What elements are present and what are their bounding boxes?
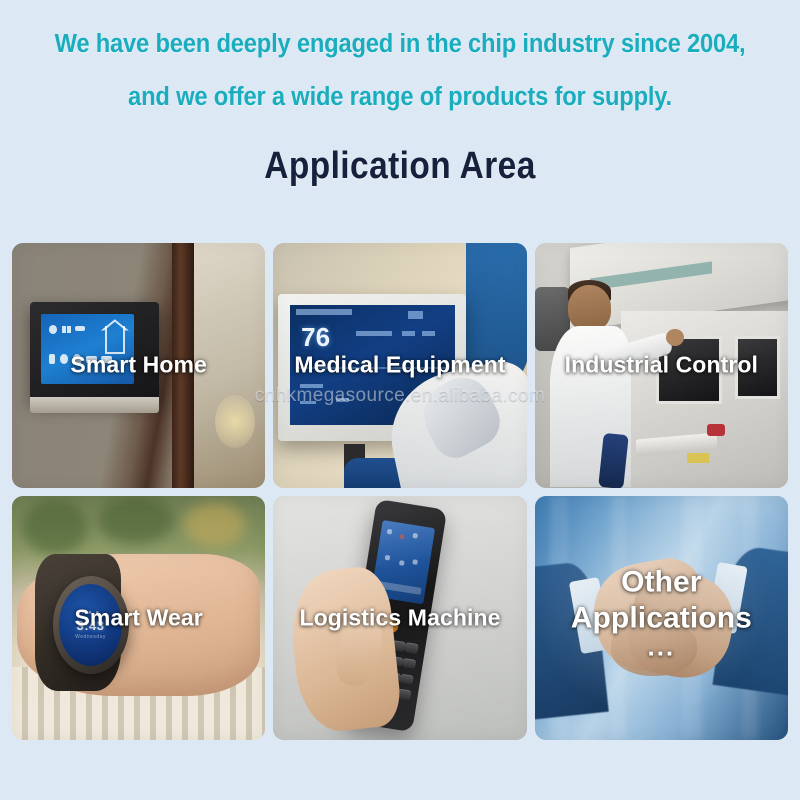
other-label-line-2: Applications	[571, 601, 752, 634]
other-label-ellipsis: ...	[541, 636, 782, 656]
card-label-other-applications: Other Applications ...	[535, 564, 788, 656]
monitor-field-2	[402, 331, 415, 336]
background-foliage	[22, 500, 88, 554]
watch-date: Wednesday	[75, 634, 106, 640]
heart-rate-value: 76	[301, 324, 330, 350]
card-smart-home[interactable]: Smart Home	[12, 243, 265, 488]
background-foliage	[98, 496, 174, 545]
card-other-applications[interactable]: Other Applications ...	[535, 496, 788, 741]
monitor-field-6	[336, 398, 349, 402]
terminal-app-icon	[400, 560, 406, 566]
terminal-app-icon	[413, 533, 419, 539]
page-header: We have been deeply engaged in the chip …	[0, 0, 800, 188]
red-component	[707, 424, 725, 436]
terminal-key	[405, 642, 419, 653]
tagline-line-1: We have been deeply engaged in the chip …	[45, 18, 756, 71]
background-light	[184, 503, 245, 547]
terminal-key	[400, 673, 414, 684]
card-label-industrial-control: Industrial Control	[535, 352, 788, 379]
technician-head	[568, 285, 611, 331]
monitor-field-3	[422, 331, 435, 336]
card-industrial-control[interactable]: Industrial Control	[535, 243, 788, 488]
monitor-field-5	[300, 401, 316, 405]
card-smart-wear[interactable]: ● ● ● 3:43 Wednesday Smart Wear	[12, 496, 265, 741]
technician-hand	[666, 329, 684, 346]
weather-label	[75, 326, 85, 331]
monitor-statusbox	[408, 311, 423, 319]
terminal-key	[403, 658, 417, 669]
terminal-app-icon	[387, 529, 393, 535]
terminal-app-icon	[399, 534, 405, 540]
application-area-grid: Smart Home 76	[12, 243, 788, 740]
blue-cable	[598, 433, 629, 488]
humidity-icon	[67, 326, 71, 334]
monitor-field-1	[356, 331, 392, 336]
temperature-icon	[62, 326, 66, 334]
monitor-topbar	[296, 309, 352, 315]
monitor-field-4	[300, 384, 323, 388]
house-body-icon	[105, 326, 125, 354]
terminal-key	[398, 689, 412, 700]
page-title: Application Area	[64, 144, 736, 188]
card-label-smart-home: Smart Home	[12, 352, 265, 379]
clock-icon	[49, 325, 57, 334]
terminal-app-icon	[413, 559, 419, 565]
card-medical-equipment[interactable]: 76 Medical Equipment	[273, 243, 526, 488]
other-label-line-1: Other	[621, 565, 702, 598]
card-label-medical-equipment: Medical Equipment	[273, 352, 526, 379]
room-light	[215, 395, 256, 449]
card-logistics-machine[interactable]: Logistics Machine	[273, 496, 526, 741]
card-label-smart-wear: Smart Wear	[12, 604, 265, 631]
card-label-logistics-machine: Logistics Machine	[273, 604, 526, 631]
panel-mount	[30, 397, 159, 413]
terminal-app-icon	[385, 555, 391, 561]
tagline-line-2: and we offer a wide range of products fo…	[45, 71, 756, 124]
yellow-component	[687, 453, 710, 463]
